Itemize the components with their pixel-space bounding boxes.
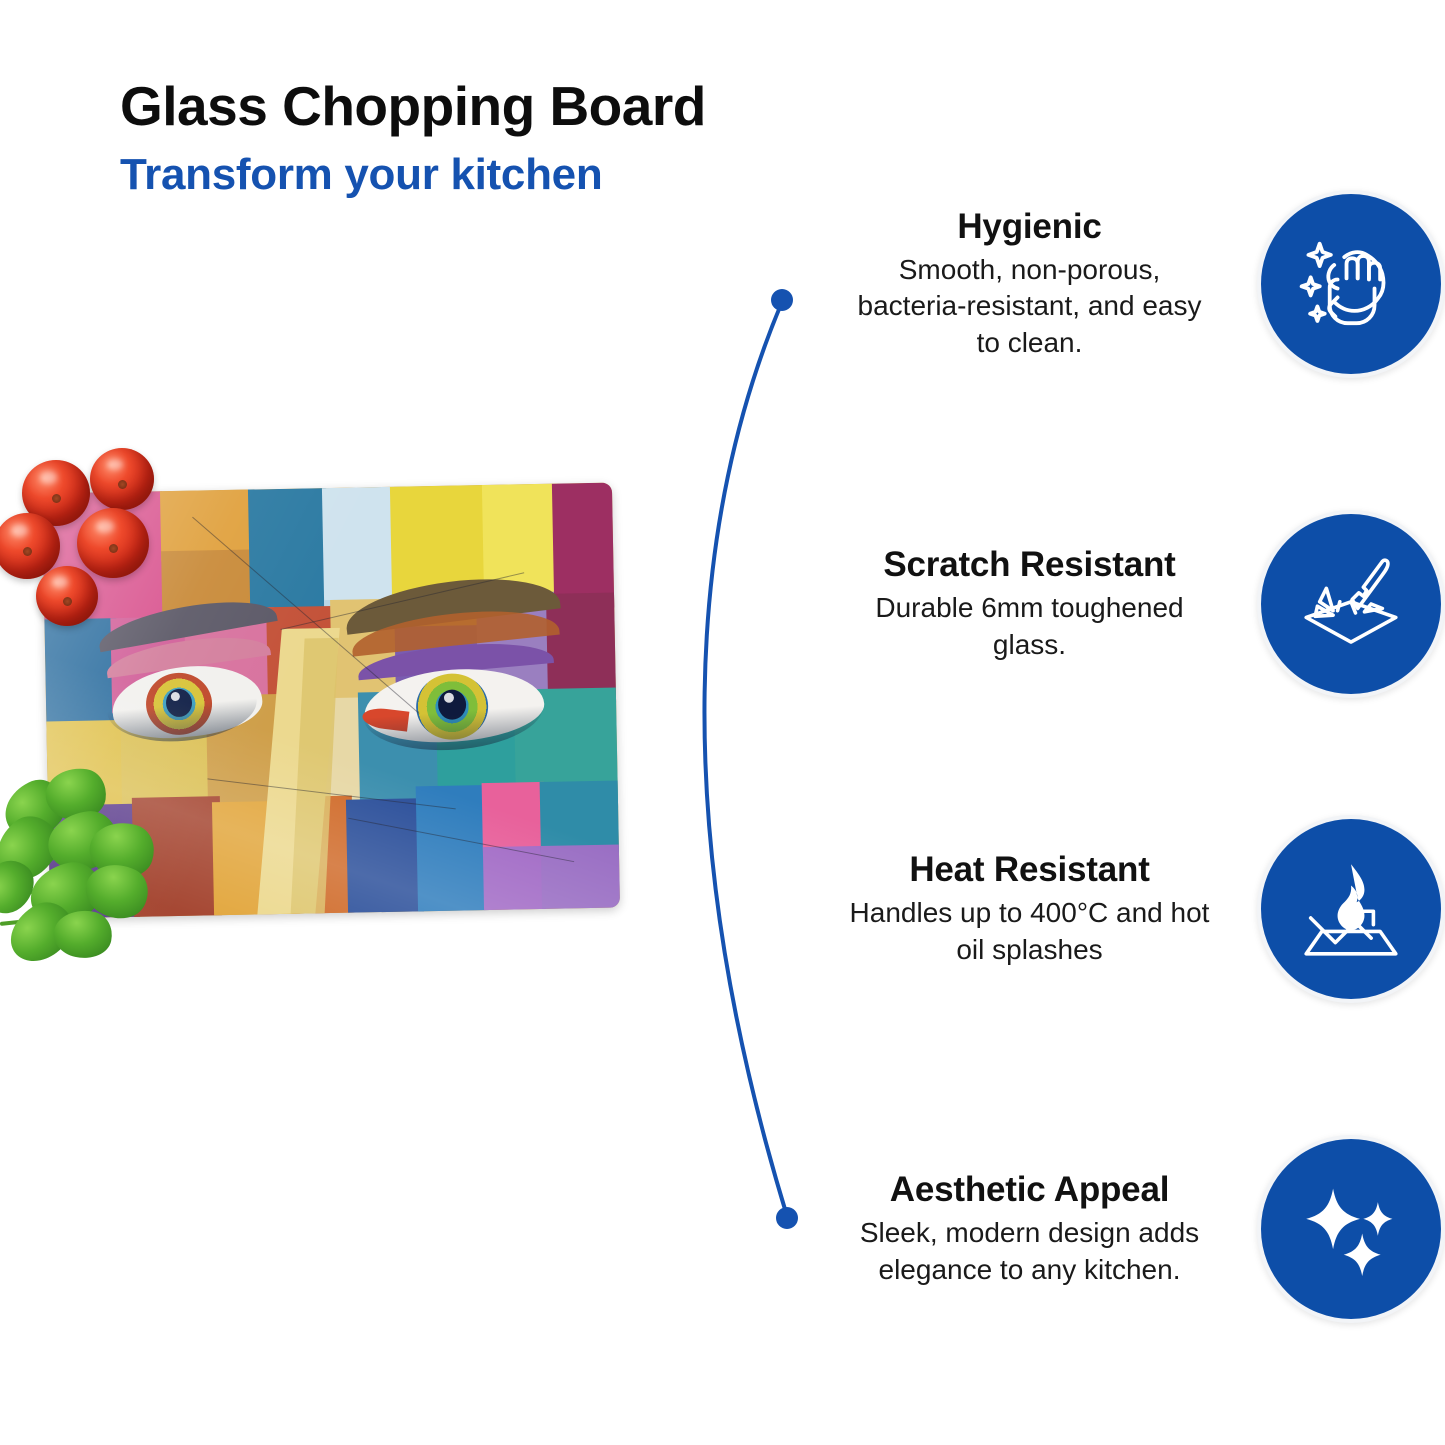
feature-title: Aesthetic Appeal bbox=[842, 1170, 1217, 1209]
feature-description: Handles up to 400°C and hot oil splashes bbox=[842, 895, 1217, 968]
knife-on-surface-icon bbox=[1257, 510, 1445, 698]
flame-deflect-icon bbox=[1257, 815, 1445, 1003]
feature-title: Scratch Resistant bbox=[842, 545, 1217, 584]
feature-list: Hygienic Smooth, non-porous, bacteria-re… bbox=[790, 0, 1445, 1445]
feature-description: Smooth, non-porous, bacteria-resistant, … bbox=[842, 252, 1217, 361]
feature-title: Heat Resistant bbox=[842, 850, 1217, 889]
feature-aesthetic-appeal[interactable]: Aesthetic Appeal Sleek, modern design ad… bbox=[790, 1135, 1445, 1323]
page-title: Glass Chopping Board bbox=[120, 78, 880, 136]
feature-description: Durable 6mm toughened glass. bbox=[842, 590, 1217, 663]
page-title-block: Glass Chopping Board Transform your kitc… bbox=[120, 78, 880, 198]
feature-description: Sleek, modern design adds elegance to an… bbox=[842, 1215, 1217, 1288]
tomato bbox=[77, 508, 149, 578]
infographic-canvas: Glass Chopping Board Transform your kitc… bbox=[0, 0, 1445, 1445]
feature-scratch-resistant[interactable]: Scratch Resistant Durable 6mm toughened … bbox=[790, 510, 1445, 698]
feature-text: Aesthetic Appeal Sleek, modern design ad… bbox=[842, 1170, 1217, 1288]
tomato bbox=[36, 566, 98, 626]
feature-hygienic[interactable]: Hygienic Smooth, non-porous, bacteria-re… bbox=[790, 190, 1445, 378]
tomato bbox=[90, 448, 154, 510]
feature-text: Scratch Resistant Durable 6mm toughened … bbox=[842, 545, 1217, 663]
feature-text: Heat Resistant Handles up to 400°C and h… bbox=[842, 850, 1217, 968]
hand-wiping-sparkle-icon bbox=[1257, 190, 1445, 378]
product-image bbox=[0, 440, 660, 1000]
feature-text: Hygienic Smooth, non-porous, bacteria-re… bbox=[842, 207, 1217, 361]
feature-heat-resistant[interactable]: Heat Resistant Handles up to 400°C and h… bbox=[790, 815, 1445, 1003]
parsley-garnish bbox=[0, 760, 190, 970]
page-subtitle: Transform your kitchen bbox=[120, 152, 880, 198]
feature-title: Hygienic bbox=[842, 207, 1217, 246]
sparkles-icon bbox=[1257, 1135, 1445, 1323]
